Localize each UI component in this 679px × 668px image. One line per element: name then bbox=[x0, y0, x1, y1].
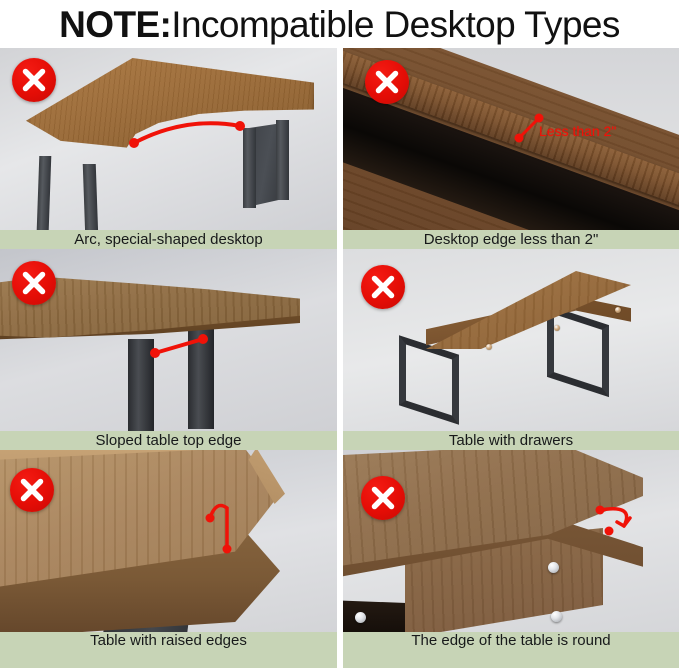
caption-bar: Sloped table top edge bbox=[0, 431, 337, 450]
panel-sloped-edge bbox=[0, 249, 337, 431]
panel-arc-desktop bbox=[0, 48, 337, 230]
drawer-knob-icon bbox=[486, 344, 492, 350]
caption-bar: Arc, special-shaped desktop bbox=[0, 230, 337, 249]
desk-leg bbox=[37, 156, 52, 230]
table-leg bbox=[128, 339, 154, 431]
caption-bar: Desktop edge less than 2" bbox=[343, 230, 679, 249]
caption-raised-edges: Table with raised edges bbox=[0, 632, 337, 648]
x-mark-icon bbox=[12, 58, 56, 102]
shadow-gap bbox=[343, 600, 413, 632]
caption-bar: Table with raised edges bbox=[0, 632, 337, 648]
caption-arc-desktop: Arc, special-shaped desktop bbox=[0, 230, 337, 249]
x-mark-icon bbox=[361, 265, 405, 309]
panel-grid: Less than 2" Arc, special-shaped desktop… bbox=[0, 48, 679, 668]
drawer-knob-icon bbox=[548, 562, 559, 573]
caption-sloped-edge: Sloped table top edge bbox=[0, 431, 337, 450]
panel-thin-edge-photo: Less than 2" bbox=[343, 48, 679, 230]
x-mark-icon bbox=[10, 468, 54, 512]
desk-leg bbox=[83, 164, 99, 230]
caption-label: Sloped table top edge bbox=[96, 433, 242, 448]
caption-thin-edge-fill bbox=[343, 648, 679, 668]
panel-thin-edge: Less than 2" bbox=[343, 48, 679, 230]
panel-with-drawers-photo bbox=[343, 249, 679, 431]
caption-thin-edge: Desktop edge less than 2" bbox=[343, 230, 679, 249]
desk-leg bbox=[243, 128, 256, 208]
page-title: NOTE:Incompatible Desktop Types bbox=[0, 0, 679, 48]
panel-arc-desktop-photo bbox=[0, 48, 337, 230]
drawer-knob-icon bbox=[554, 325, 560, 331]
x-mark-icon bbox=[361, 476, 405, 520]
panel-raised-edges-photo bbox=[0, 450, 337, 632]
caption-round-edge: The edge of the table is round bbox=[343, 632, 679, 648]
caption-bar-fill bbox=[0, 648, 337, 668]
panel-sloped-edge-photo bbox=[0, 249, 337, 431]
panel-round-edge bbox=[343, 450, 679, 632]
note-infographic: NOTE:Incompatible Desktop Types bbox=[0, 0, 679, 668]
desk-leg bbox=[276, 120, 289, 200]
caption-arc-desktop-fill bbox=[0, 648, 337, 668]
drawer-knob-icon bbox=[355, 612, 366, 623]
page-title-text: NOTE:Incompatible Desktop Types bbox=[59, 6, 620, 43]
caption-label: The edge of the table is round bbox=[411, 633, 610, 648]
caption-label: Arc, special-shaped desktop bbox=[74, 232, 262, 247]
panel-raised-edges bbox=[0, 450, 337, 632]
caption-with-drawers: Table with drawers bbox=[343, 431, 679, 450]
caption-label: Table with drawers bbox=[449, 433, 573, 448]
table-leg bbox=[188, 329, 214, 429]
drawer-knob-icon bbox=[551, 611, 562, 622]
x-mark-icon bbox=[365, 60, 409, 104]
caption-bar: The edge of the table is round bbox=[343, 632, 679, 648]
drawer-knob-icon bbox=[615, 307, 621, 313]
panel-with-drawers bbox=[343, 249, 679, 431]
x-mark-icon bbox=[12, 261, 56, 305]
caption-bar: Table with drawers bbox=[343, 431, 679, 450]
caption-bar-fill bbox=[343, 648, 679, 668]
caption-label: Table with raised edges bbox=[90, 633, 247, 648]
page-title-prefix: NOTE: bbox=[59, 4, 171, 45]
panel-round-edge-photo bbox=[343, 450, 679, 632]
caption-label: Desktop edge less than 2" bbox=[424, 232, 599, 247]
page-title-rest: Incompatible Desktop Types bbox=[171, 4, 620, 45]
thin-edge-label: Less than 2" bbox=[539, 124, 616, 138]
